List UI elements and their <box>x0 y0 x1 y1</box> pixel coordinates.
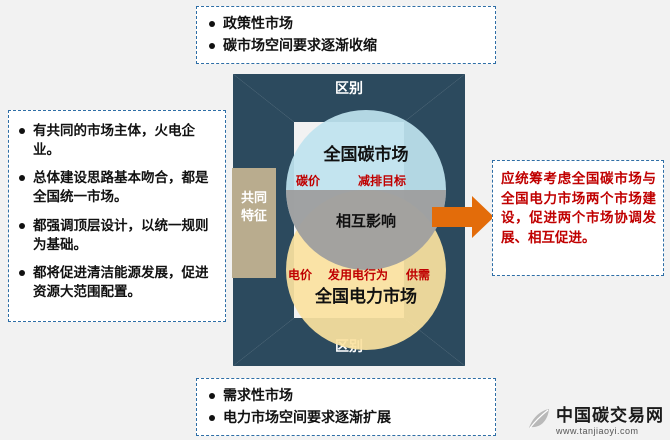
common-features-panel-line1: 共同 <box>232 190 276 206</box>
band-top-label: 区别 <box>232 78 466 98</box>
bottom-callout-item: 需求性市场 <box>207 386 487 405</box>
watermark-url: www.tanjiaoyi.com <box>556 426 664 436</box>
tag-carbon-price: 碳价 <box>296 172 320 189</box>
mutual-influence-label: 相互影响 <box>286 210 446 231</box>
power-market-label: 全国电力市场 <box>278 282 454 307</box>
left-callout-item: 都将促进清洁能源发展，促进资源大范围配置。 <box>17 263 217 301</box>
left-callout-item: 有共同的市场主体，火电企业。 <box>17 121 217 159</box>
carbon-market-label: 全国碳市场 <box>286 140 446 165</box>
bottom-callout-item: 电力市场空间要求逐渐扩展 <box>207 408 487 427</box>
orange-arrow-icon <box>432 196 494 238</box>
right-callout: 应统筹考虑全国碳市场与全国电力市场两个市场建设，促进两个市场协调发展、相互促进。 <box>492 160 664 276</box>
left-callout: 有共同的市场主体，火电企业。 总体建设思路基本吻合，都是全国统一市场。 都强调顶… <box>8 110 226 322</box>
common-features-panel: 共同 特征 <box>232 168 276 278</box>
watermark-title: 中国碳交易网 <box>556 401 664 426</box>
bottom-callout: 需求性市场 电力市场空间要求逐渐扩展 <box>196 378 496 436</box>
left-callout-item: 总体建设思路基本吻合，都是全国统一市场。 <box>17 168 217 206</box>
leaf-logo-icon <box>526 406 552 432</box>
tag-emission-target: 减排目标 <box>358 172 406 189</box>
top-callout-item: 碳市场空间要求逐渐收缩 <box>207 36 487 55</box>
watermark: 中国碳交易网 www.tanjiaoyi.com <box>526 401 664 436</box>
left-callout-item: 都强调顶层设计，以统一规则为基础。 <box>17 216 217 254</box>
top-callout-item: 政策性市场 <box>207 14 487 33</box>
tag-supply-demand: 供需 <box>406 266 430 283</box>
right-callout-text: 应统筹考虑全国碳市场与全国电力市场两个市场建设，促进两个市场协调发展、相互促进。 <box>501 169 656 247</box>
common-features-panel-line2: 特征 <box>232 208 276 224</box>
tag-electricity-price: 电价 <box>288 266 312 283</box>
tag-generation-consumption: 发用电行为 <box>328 266 388 283</box>
diagram-canvas: 区别 区别 共同 特征 全国碳市场 全国电力市场 相互影响 碳价 减排目标 电价… <box>0 0 670 440</box>
top-callout: 政策性市场 碳市场空间要求逐渐收缩 <box>196 6 496 64</box>
